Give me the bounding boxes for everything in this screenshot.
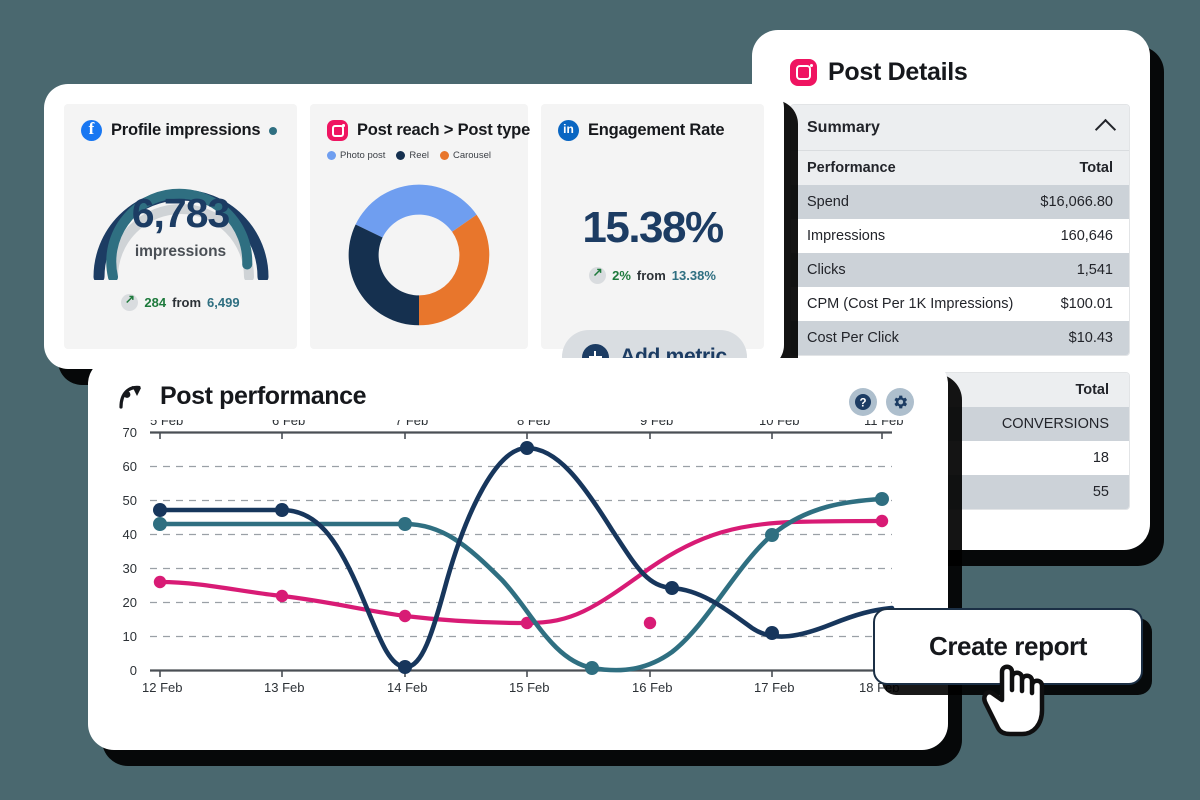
delta-baseline: 13.38%	[672, 268, 716, 283]
gauge-value: 6,783	[81, 190, 281, 237]
row-value: 1,541	[1077, 262, 1113, 278]
metrics-panel: Profile impressions 6,783 impressions 28…	[44, 84, 784, 369]
delta-baseline: 6,499	[207, 295, 240, 310]
svg-text:40: 40	[123, 527, 137, 542]
gauge-unit: impressions	[81, 243, 281, 261]
svg-text:5 Feb: 5 Feb	[150, 420, 183, 428]
svg-text:?: ?	[859, 397, 866, 409]
card-header: Engagement Rate	[541, 104, 764, 141]
chart-svg: 70 60 50 40 30 20 10 0	[102, 420, 934, 738]
summary-toggle[interactable]: Summary	[791, 105, 1129, 151]
svg-text:30: 30	[123, 561, 137, 576]
row-value: 18	[1093, 450, 1109, 466]
row-value: 55	[1093, 484, 1109, 500]
card-title: Post reach > Post type	[357, 121, 530, 140]
post-details-header: Post Details	[790, 58, 1130, 87]
svg-text:15 Feb: 15 Feb	[509, 680, 549, 695]
svg-text:8 Feb: 8 Feb	[517, 420, 550, 428]
chevron-up-icon[interactable]	[1095, 119, 1116, 140]
help-icon[interactable]: ?	[849, 388, 877, 416]
svg-text:14 Feb: 14 Feb	[387, 680, 427, 695]
dashboard-stage: Post Details Summary Performance Total S…	[0, 0, 1200, 800]
table-row[interactable]: Cost Per Click $10.43	[791, 321, 1129, 355]
svg-text:7 Feb: 7 Feb	[395, 420, 428, 428]
metric-card-profile-impressions[interactable]: Profile impressions 6,783 impressions 28…	[64, 104, 297, 349]
linkedin-icon	[558, 120, 579, 141]
svg-text:6 Feb: 6 Feb	[272, 420, 305, 428]
hand-pointer-cursor	[978, 648, 1056, 740]
post-performance-panel: Post performance ? 70 60 50 40	[88, 358, 948, 750]
legend-label: Photo post	[340, 150, 385, 161]
svg-text:20: 20	[123, 595, 137, 610]
card-header: Profile impressions	[64, 104, 297, 141]
row-value: $100.01	[1061, 296, 1113, 312]
table-row[interactable]: Spend $16,066.80	[791, 185, 1129, 219]
y-axis-labels: 70 60 50 40 30 20 10 0	[123, 425, 137, 678]
legend-label: Reel	[409, 150, 429, 161]
svg-text:17 Feb: 17 Feb	[754, 680, 794, 695]
panel-actions: ?	[849, 388, 914, 416]
trend-up-icon	[589, 267, 606, 284]
trend-curve-icon	[118, 384, 146, 410]
row-value: 160,646	[1061, 228, 1113, 244]
row-label: Spend	[807, 194, 849, 210]
row-value: $16,066.80	[1040, 194, 1113, 210]
delta-change: 2%	[612, 268, 631, 283]
legend-item-photo-post[interactable]: Photo post	[327, 150, 385, 161]
svg-text:9 Feb: 9 Feb	[640, 420, 673, 428]
trend-up-icon	[121, 294, 138, 311]
status-dot-icon	[269, 127, 277, 135]
row-label: Clicks	[807, 262, 846, 278]
metric-card-post-reach[interactable]: Post reach > Post type Photo post Reel C…	[310, 104, 528, 349]
instagram-icon	[790, 59, 817, 86]
svg-text:16 Feb: 16 Feb	[632, 680, 672, 695]
settings-gear-icon[interactable]	[886, 388, 914, 416]
engagement-rate-value: 15.38%	[541, 203, 764, 253]
impressions-gauge: 6,783 impressions	[81, 155, 281, 280]
column-header-total: Total	[1079, 160, 1113, 176]
column-header-total: Total	[1075, 382, 1109, 398]
post-performance-title: Post performance	[160, 382, 366, 411]
table-row[interactable]: CPM (Cost Per 1K Impressions) $100.01	[791, 287, 1129, 321]
card-title: Engagement Rate	[588, 121, 724, 140]
x-axis-bottom-labels: 12 Feb 13 Feb 14 Feb 15 Feb 16 Feb 17 Fe…	[142, 680, 899, 695]
svg-text:10: 10	[123, 629, 137, 644]
delta-indicator: 2% from 13.38%	[541, 267, 764, 284]
table-header-row: Performance Total	[791, 151, 1129, 185]
series-points-teal	[153, 492, 889, 675]
donut-legend: Photo post Reel Carousel	[310, 141, 528, 161]
table-row[interactable]: Clicks 1,541	[791, 253, 1129, 287]
delta-connector: from	[637, 268, 666, 283]
svg-text:11 Feb: 11 Feb	[864, 420, 904, 428]
post-performance-header: Post performance	[88, 358, 948, 411]
card-header: Post reach > Post type	[310, 104, 528, 141]
donut-chart	[310, 171, 528, 339]
row-label: Cost Per Click	[807, 330, 899, 346]
legend-item-reel[interactable]: Reel	[396, 150, 429, 161]
delta-indicator: 284 from 6,499	[64, 294, 297, 311]
legend-item-carousel[interactable]: Carousel	[440, 150, 491, 161]
donut-svg	[335, 171, 503, 339]
delta-connector: from	[172, 295, 201, 310]
card-title: Profile impressions	[111, 121, 260, 140]
table-row[interactable]: Impressions 160,646	[791, 219, 1129, 253]
metric-card-engagement-rate[interactable]: Engagement Rate 15.38% 2% from 13.38%	[541, 104, 764, 349]
column-header-performance: Performance	[807, 160, 896, 176]
series-line-navy	[160, 448, 892, 667]
svg-text:60: 60	[123, 459, 137, 474]
row-label: CPM (Cost Per 1K Impressions)	[807, 296, 1013, 312]
row-label: Impressions	[807, 228, 885, 244]
svg-text:13 Feb: 13 Feb	[264, 680, 304, 695]
row-value: $10.43	[1069, 330, 1113, 346]
post-details-title: Post Details	[828, 58, 968, 87]
instagram-icon	[327, 120, 348, 141]
delta-change: 284	[144, 295, 166, 310]
svg-text:70: 70	[123, 425, 137, 440]
summary-card: Summary Performance Total Spend $16,066.…	[790, 104, 1130, 356]
svg-text:12 Feb: 12 Feb	[142, 680, 182, 695]
chart-gridlines	[150, 467, 892, 637]
svg-text:50: 50	[123, 493, 137, 508]
summary-label: Summary	[807, 119, 880, 137]
facebook-icon	[81, 120, 102, 141]
svg-text:0: 0	[130, 663, 137, 678]
svg-text:10 Feb: 10 Feb	[759, 420, 799, 428]
row-label: CONVERSIONS	[1002, 416, 1109, 432]
post-performance-chart: 70 60 50 40 30 20 10 0	[102, 420, 934, 738]
legend-label: Carousel	[453, 150, 491, 161]
x-axis-top-labels: 5 Feb 6 Feb 7 Feb 8 Feb 9 Feb 10 Feb 11 …	[150, 420, 904, 428]
